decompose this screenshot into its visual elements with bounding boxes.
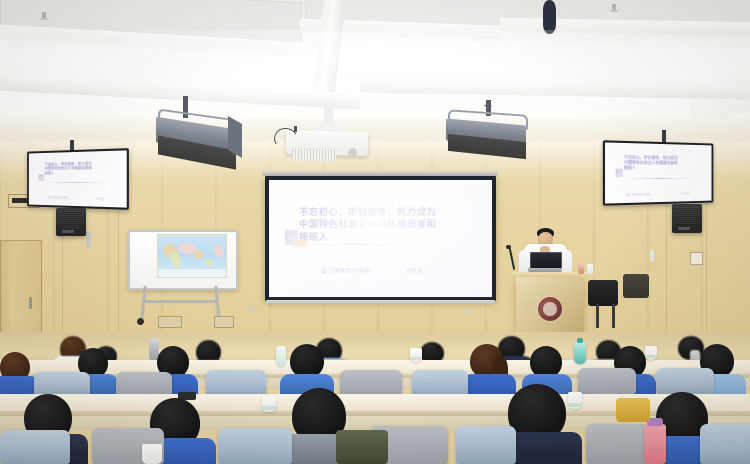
ceiling (0, 0, 750, 128)
backpack-yellow (616, 398, 650, 422)
water-bottle-podium (578, 262, 584, 274)
lecture-hall-photo: 不忘初心，牢记使命，努力成为 中国特色社会主义合格建设者和 接班人 厦门国家会计… (0, 0, 750, 464)
wall-monitor-left: 不忘初心，牢记使命，努力成为 中国特色社会主义合格建设者和 接班人 厦门国家会计… (22, 148, 132, 214)
mobile-whiteboard (128, 230, 234, 324)
paper-cup-6 (142, 444, 162, 464)
monitor-left-title: 不忘初心，牢记使命，努力成为 中国特色社会主义合格建设者和 接班人 (45, 161, 119, 175)
monitor-right-footer-speaker: 刘光忠 (681, 191, 689, 195)
presenter-laptop[interactable] (528, 252, 562, 274)
projection-screen: 不忘初心，牢记使命，努力成为 中国特色社会主义合格建设者和 接班人 厦门国家会计… (265, 176, 496, 301)
wall-cabinet-right (214, 316, 234, 328)
chair-row-front-7[interactable] (700, 424, 750, 464)
chair-row-front-3[interactable] (218, 428, 292, 464)
sprinkler-head-left (42, 12, 46, 19)
world-map-poster (157, 234, 227, 278)
screen-bottom-bar (266, 300, 495, 304)
wall-monitor-right: 不忘初心，牢记使命，努力成为 中国特色社会主义合格建设者和 接班人 厦门国家会计… (604, 140, 724, 210)
monitor-right-footer-institution: 厦门国家会计学院 (626, 192, 650, 197)
stage-light-left (150, 96, 250, 168)
wall-speaker-left (56, 208, 86, 236)
wall-outlet-right (690, 252, 703, 265)
chair-row-front-5[interactable] (456, 426, 516, 464)
wall-speaker-right (672, 204, 702, 233)
water-bottle-pink (644, 424, 666, 464)
water-glass-podium (587, 264, 593, 274)
wall-cabinet-left (158, 316, 182, 328)
sprinkler-head-right (612, 4, 616, 11)
monitor-right-title: 不忘初心，牢记使命，努力成为 中国特色社会主义合格建设者和 接班人 (624, 155, 705, 170)
whiteboard-caster-left (137, 318, 144, 325)
monitor-left-footer-speaker: 刘光忠 (96, 196, 105, 200)
bag-dark (336, 430, 388, 464)
stage-light-right (438, 100, 538, 166)
ceiling-projector (286, 126, 368, 170)
ceiling-camera (543, 0, 556, 34)
chair-row-front-1[interactable] (0, 430, 70, 464)
stage-chair (588, 280, 618, 306)
monitor-left-footer-institution: 厦门国家会计学院 (48, 195, 69, 199)
stage-chair-secondary (623, 274, 649, 298)
